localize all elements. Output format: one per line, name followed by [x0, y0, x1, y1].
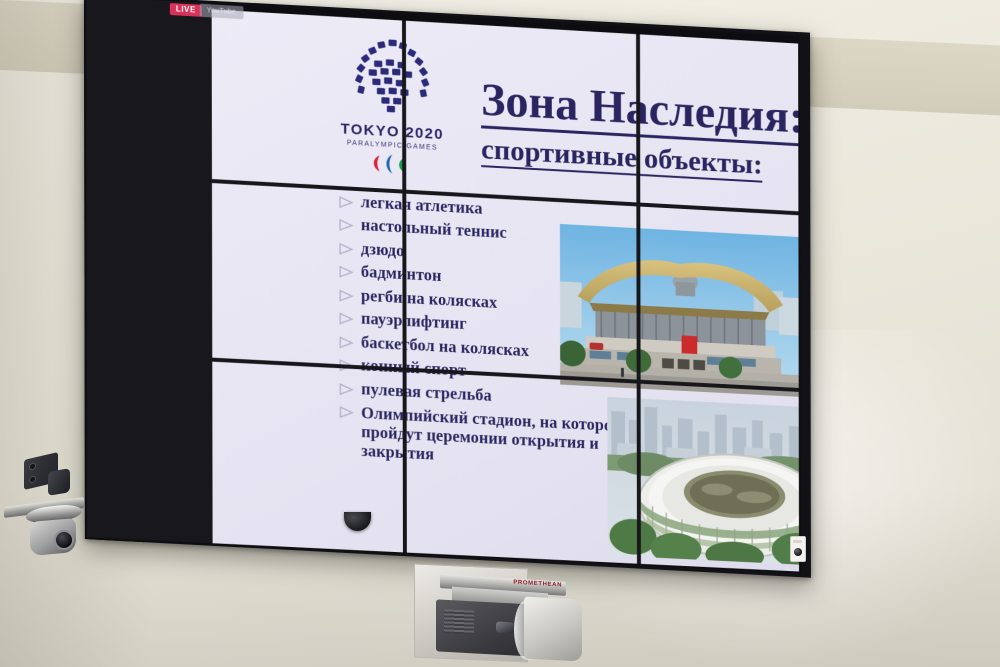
slide-content: TOKYO 2020 PARALYMPIC GAMES Зона Наследи… [212, 9, 799, 571]
list-item: Олимпийский стадион, на котором пройдут … [339, 402, 635, 474]
video-wall-inner: TOKYO 2020 PARALYMPIC GAMES Зона Наследи… [84, 0, 801, 574]
slide-title: Зона Наследия: спортивные объекты: [481, 77, 799, 191]
list-item-label: бадминтон [361, 263, 442, 286]
room-scene: TOKYO 2020 PARALYMPIC GAMES Зона Наследи… [0, 0, 1000, 667]
arrow-bullet-icon [339, 239, 361, 256]
tokyo-2020-logo-block: TOKYO 2020 PARALYMPIC GAMES [333, 34, 452, 178]
video-wall-frame: TOKYO 2020 PARALYMPIC GAMES Зона Наследи… [84, 0, 811, 578]
ptz-camera-wall-mount [4, 450, 100, 572]
arrow-bullet-icon [339, 262, 361, 279]
list-item-label: легкая атлетика [361, 193, 483, 218]
arrow-bullet-icon [339, 309, 361, 326]
projector-cover [524, 596, 582, 661]
list-item-label: конный спорт [361, 357, 466, 381]
video-wall[interactable]: TOKYO 2020 PARALYMPIC GAMES Зона Наследи… [84, 0, 811, 578]
arrow-bullet-icon [339, 356, 361, 373]
paralympic-agitos-symbol-icon [369, 152, 416, 177]
list-item-label: Олимпийский стадион, на котором пройдут … [361, 403, 635, 474]
camera-lens-icon [54, 530, 74, 550]
youtube-watermark: YouTube [200, 4, 243, 19]
japan-national-stadium-photo [607, 397, 799, 567]
list-item-label: регби на колясках [361, 287, 497, 313]
wall-motion-sensor [790, 536, 806, 562]
projector-lens-icon [496, 622, 514, 634]
sensor-slit [793, 540, 802, 543]
arrow-bullet-icon [339, 215, 361, 232]
letterbox-column [86, 0, 213, 543]
camera-pivot-knuckle [48, 468, 70, 496]
nippon-budokan-arena-photo [560, 224, 799, 397]
list-item-label: дзюдо [361, 240, 404, 261]
bracket-hole-1 [29, 462, 36, 471]
list-item-label: настольный теннис [361, 217, 507, 243]
slide-title-line2: спортивные объекты: [481, 134, 762, 183]
arrow-bullet-icon [339, 402, 361, 419]
sensor-lens-icon [794, 548, 802, 556]
arrow-bullet-icon [339, 192, 361, 209]
projector-vents [444, 609, 474, 635]
live-badge: LIVE [170, 3, 202, 17]
list-item-label: пауэрлифтинг [361, 310, 467, 334]
list-item-label: пулевая стрельба [361, 380, 492, 405]
projector-brand-label: PROMETHEAN [513, 580, 562, 589]
arrow-bullet-icon [339, 379, 361, 396]
tokyo-2020-harmonized-checkered-emblem-icon [347, 35, 438, 124]
bracket-hole-2 [29, 475, 36, 484]
arrow-bullet-icon [339, 332, 361, 349]
projector-wall-mount-assembly: PROMETHEAN [404, 556, 594, 667]
presentation-slide[interactable]: TOKYO 2020 PARALYMPIC GAMES Зона Наследи… [212, 9, 799, 571]
arrow-bullet-icon [339, 285, 361, 302]
